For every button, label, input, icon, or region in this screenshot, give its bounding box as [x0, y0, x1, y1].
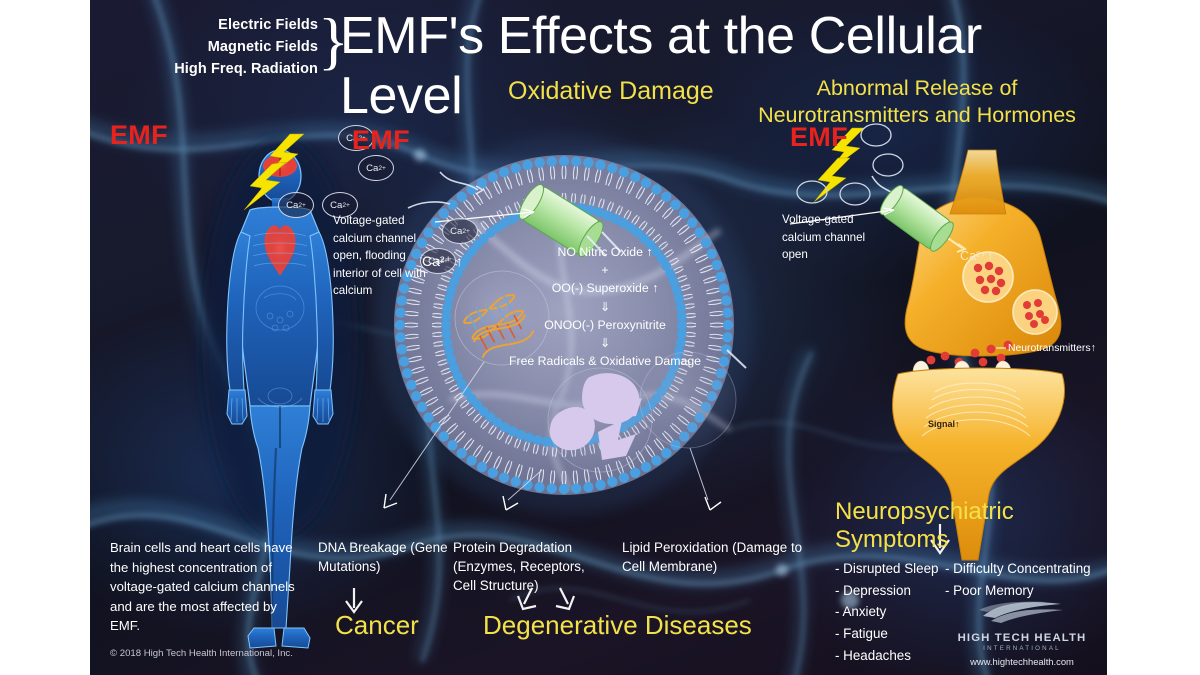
oxidative-cascade: NO Nitric Oxide ↑ + OO(-) Superoxide ↑ ⇓… — [475, 243, 735, 370]
cascade-step: ⇓ — [475, 334, 735, 352]
brand-logo[interactable]: HIGH TECH HEALTH INTERNATIONAL www.hight… — [952, 600, 1092, 667]
brain-heart-paragraph: Brain cells and heart cells have the hig… — [110, 538, 310, 636]
cascade-trigger-label: Ca²⁺ ↑ — [422, 253, 463, 270]
logo-website-url[interactable]: www.hightechhealth.com — [952, 656, 1092, 667]
cascade-step: ⇓ — [475, 298, 735, 316]
cascade-step: + — [475, 261, 735, 279]
logo-tagline: INTERNATIONAL — [952, 645, 1092, 652]
calcium-ion-bubble: Ca2+ — [358, 155, 394, 181]
outcome-label-protein-degradation: Protein Degradation (Enzymes, Receptors,… — [453, 538, 593, 595]
symptom-item: - Depression — [835, 580, 938, 602]
emf-label-cell: EMF — [352, 125, 410, 156]
symptom-item: - Headaches — [835, 645, 938, 667]
calcium-ion-bubble: Ca2+ — [278, 192, 314, 218]
cascade-step: NO Nitric Oxide ↑ — [475, 243, 735, 261]
cascade-step: Free Radicals & Oxidative Damage — [475, 352, 735, 370]
logo-name: HIGH TECH HEALTH — [952, 632, 1092, 644]
outcome-result-degenerative: Degenerative Diseases — [483, 610, 752, 641]
infographic-canvas: Ca2+ Ca2+ Ca2+ Ca2+ Ca2+ Ca2+ Electric F… — [0, 0, 1200, 675]
calcium-ion-bubble: Ca2+ — [442, 218, 478, 244]
emf-definition-line: High Freq. Radiation — [168, 58, 318, 80]
symptom-item: - Disrupted Sleep — [835, 558, 938, 580]
signal-label: Signal↑ — [928, 419, 960, 429]
symptom-item: - Difficulty Concentrating — [945, 558, 1091, 580]
poster-artwork: Ca2+ Ca2+ Ca2+ Ca2+ Ca2+ Ca2+ Electric F… — [90, 0, 1107, 675]
outcome-label-dna-breakage: DNA Breakage (Gene Mutations) — [318, 538, 448, 576]
emf-definition-line: Magnetic Fields — [168, 36, 318, 58]
outcome-result-cancer: Cancer — [335, 610, 419, 641]
outcome-label-lipid-peroxidation: Lipid Peroxidation (Damage to Cell Membr… — [622, 538, 807, 576]
callout-voltage-gated-channel-synapse: Voltage-gated calcium channel open — [782, 211, 882, 264]
symptoms-title: Neuropsychiatric Symptoms — [835, 498, 1107, 554]
emf-label-body: EMF — [110, 120, 168, 151]
copyright-notice: © 2018 High Tech Health International, I… — [110, 648, 293, 659]
callout-voltage-gated-channel-cell: Voltage-gated calcium channel open, floo… — [333, 212, 428, 300]
symptoms-column-right: - Difficulty Concentrating - Poor Memory — [945, 558, 1091, 601]
cascade-step: ONOO(-) Peroxynitrite — [475, 316, 735, 334]
wave-logo-icon — [977, 600, 1067, 626]
symptoms-column-left: - Disrupted Sleep - Depression - Anxiety… — [835, 558, 938, 667]
cascade-step: OO(-) Superoxide ↑ — [475, 279, 735, 297]
neurotransmitters-label: Neurotransmitters↑ — [1008, 343, 1096, 354]
emf-definition-line: Electric Fields — [168, 14, 318, 36]
symptom-item: - Anxiety — [835, 601, 938, 623]
emf-definition-lines: Electric Fields Magnetic Fields High Fre… — [168, 14, 318, 80]
symptom-item: - Fatigue — [835, 623, 938, 645]
emf-label-synapse: EMF — [790, 122, 848, 153]
symptom-item: - Poor Memory — [945, 580, 1091, 602]
section-subtitle-oxidative: Oxidative Damage — [508, 76, 714, 107]
calcium-influx-label: Ca²⁺↑ — [960, 248, 993, 263]
